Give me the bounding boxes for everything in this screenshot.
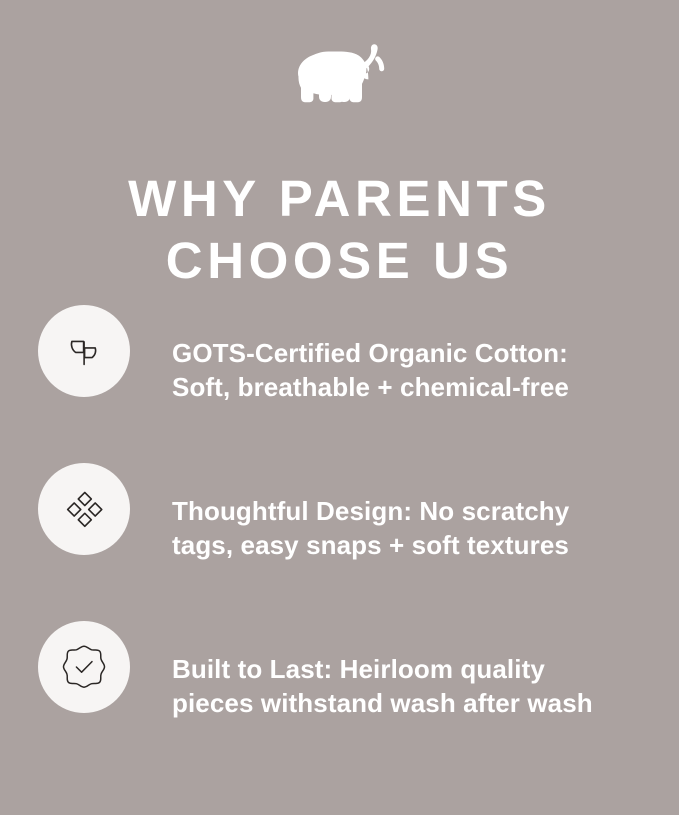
feature-item-organic-cotton: GOTS-Certified Organic Cotton: Soft, bre… <box>0 296 679 454</box>
page-title: WHY PARENTS CHOOSE US <box>0 168 679 292</box>
feature-icon-badge <box>38 463 130 555</box>
feature-icon-badge <box>38 621 130 713</box>
elephant-logo-icon <box>292 41 388 105</box>
feature-text: Thoughtful Design: No scratchy tags, eas… <box>172 494 642 562</box>
feature-icon-badge <box>38 305 130 397</box>
badge-check-icon <box>59 642 109 692</box>
feature-list: GOTS-Certified Organic Cotton: Soft, bre… <box>0 296 679 770</box>
four-diamonds-icon <box>62 487 106 531</box>
feature-item-built-to-last: Built to Last: Heirloom quality pieces w… <box>0 612 679 770</box>
feature-item-thoughtful-design: Thoughtful Design: No scratchy tags, eas… <box>0 454 679 612</box>
brand-logo <box>0 34 679 112</box>
sprout-leaf-icon <box>62 329 106 373</box>
infographic-page: WHY PARENTS CHOOSE US <box>0 0 679 815</box>
feature-text: Built to Last: Heirloom quality pieces w… <box>172 652 642 720</box>
feature-text: GOTS-Certified Organic Cotton: Soft, bre… <box>172 336 642 404</box>
